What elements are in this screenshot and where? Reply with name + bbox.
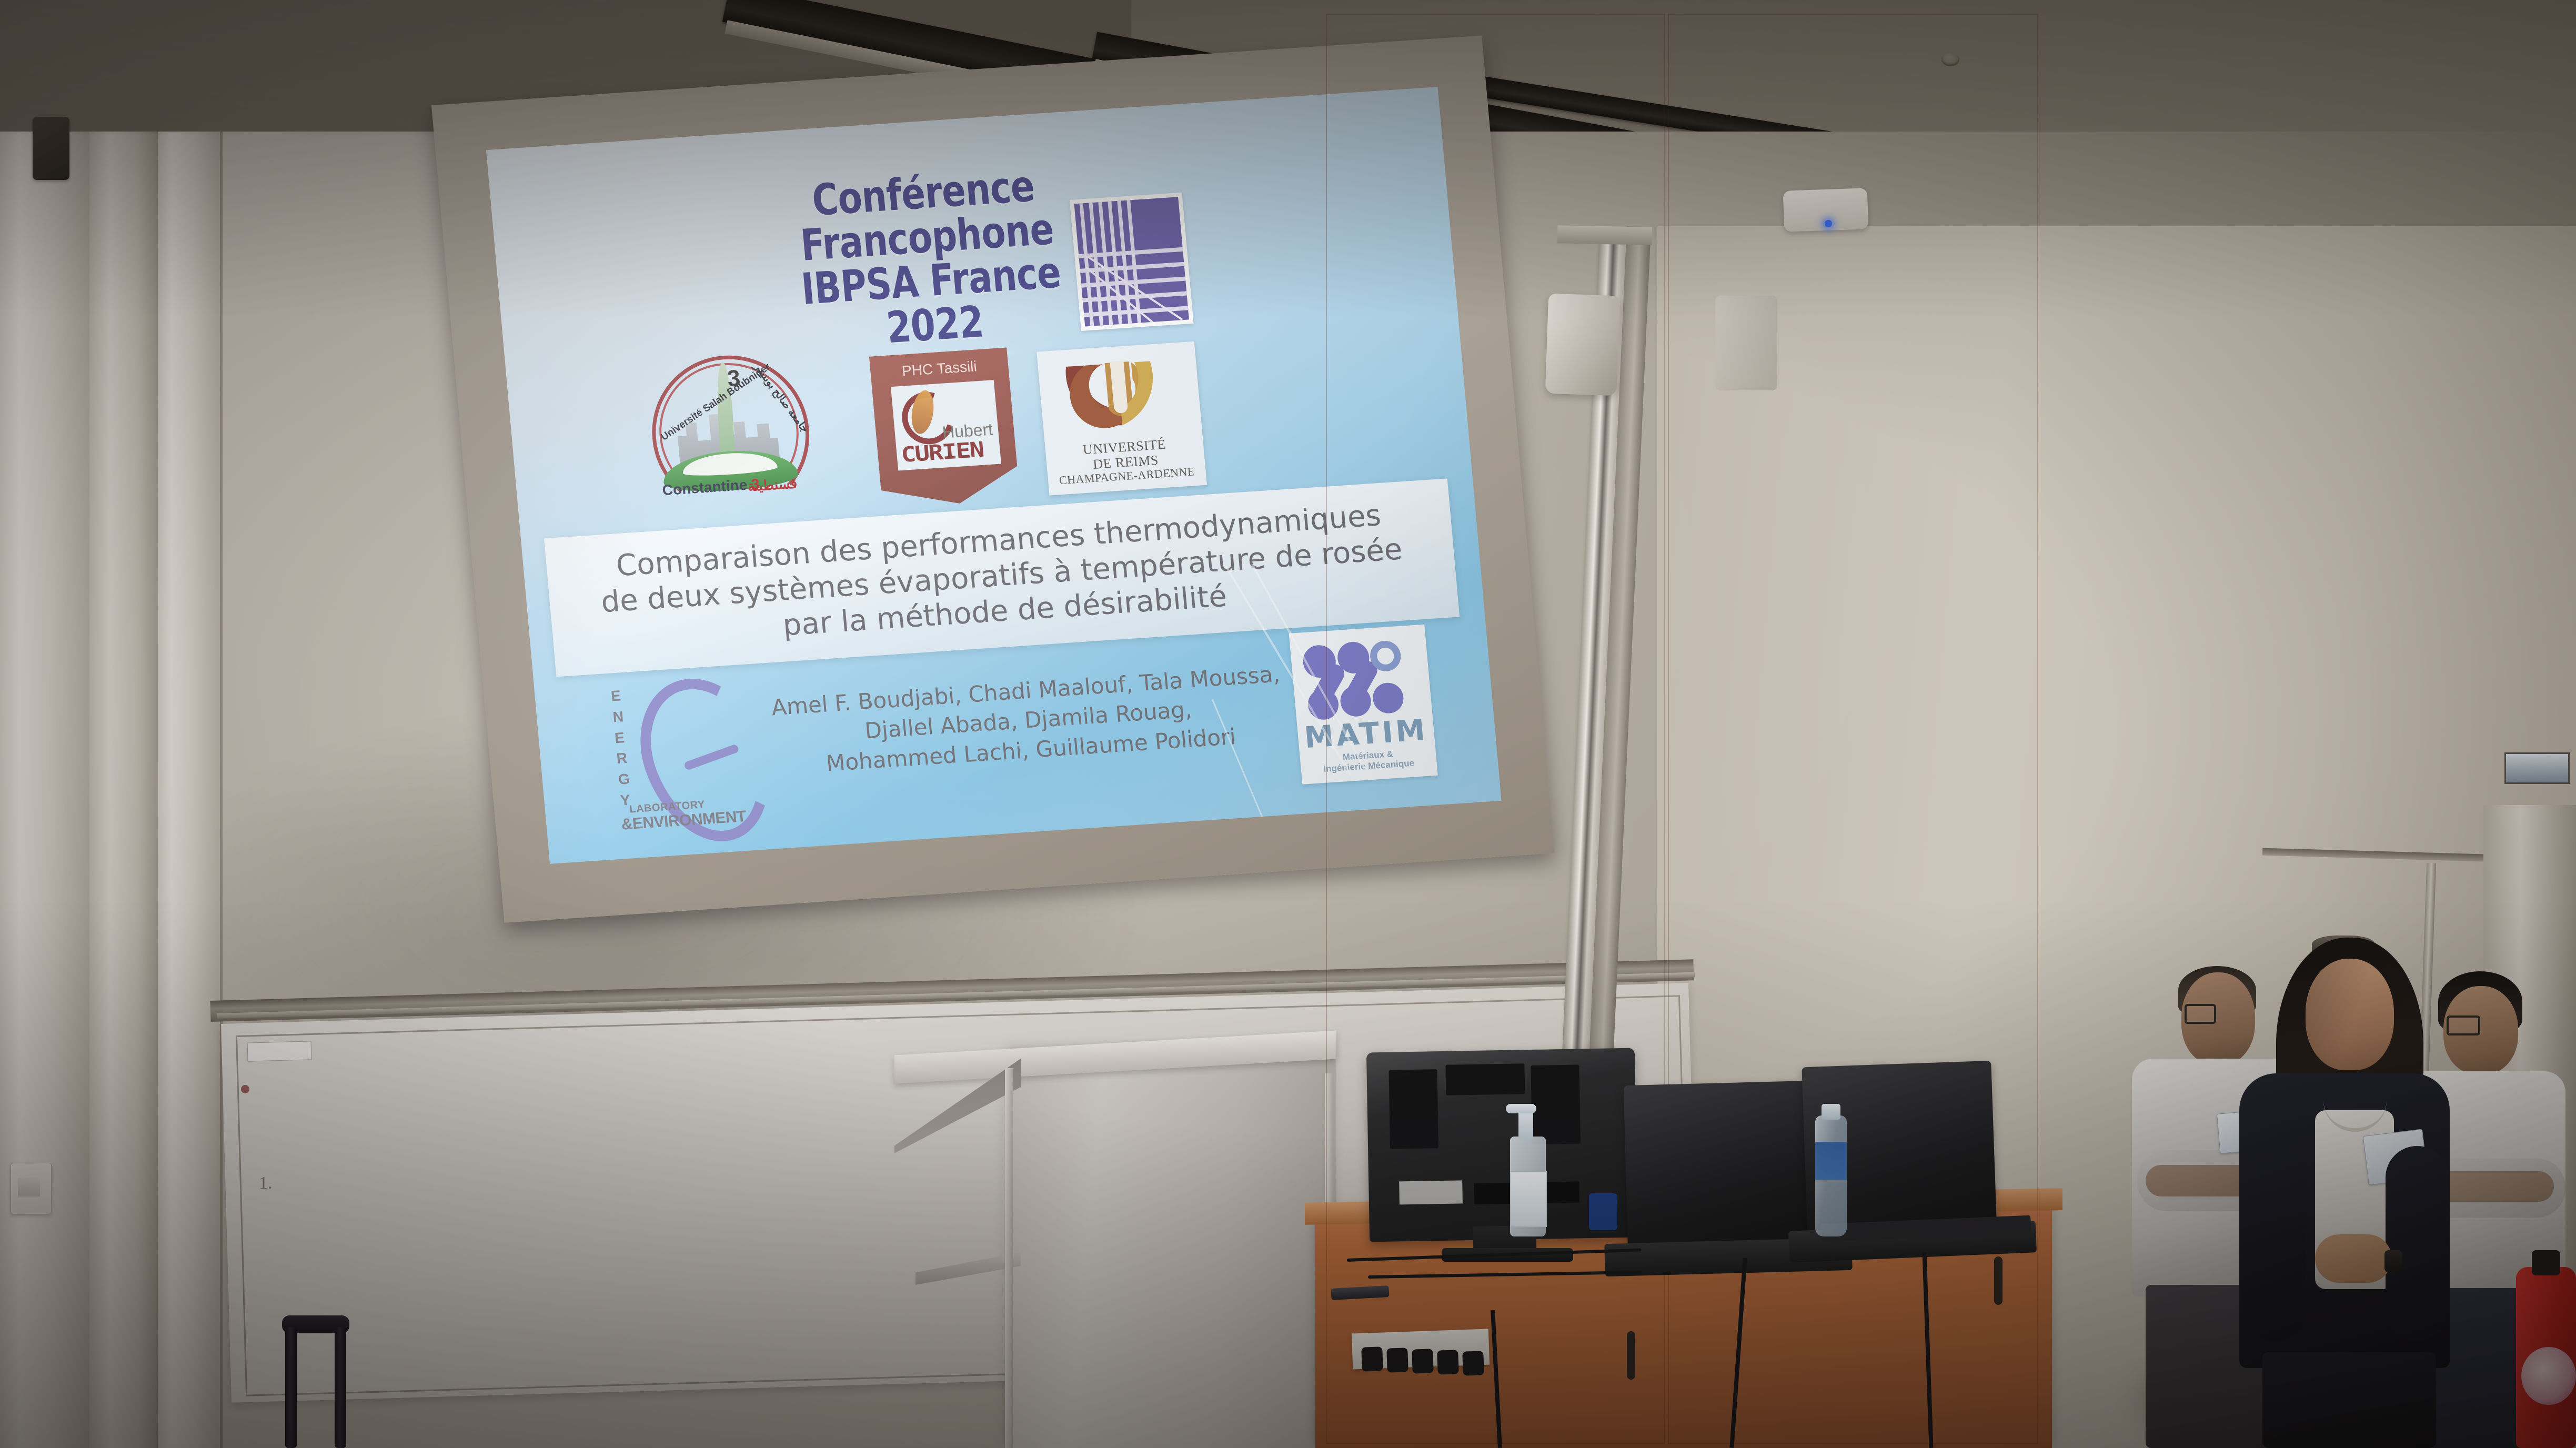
power-plug-1[interactable] bbox=[1361, 1346, 1383, 1371]
wall-sign bbox=[2504, 752, 2570, 784]
fire-extinguisher-handle bbox=[2532, 1250, 2560, 1275]
laptop-left-lid bbox=[1624, 1080, 1833, 1255]
power-plug-2[interactable] bbox=[1386, 1348, 1408, 1372]
wall-pilaster-mid bbox=[89, 132, 158, 1448]
woman-face-shadow bbox=[2306, 959, 2394, 1070]
phc-curien-label: CURIEN bbox=[900, 438, 984, 467]
woman-arm-left bbox=[2242, 1142, 2306, 1342]
whiteboard-marking: 1. bbox=[259, 1173, 273, 1193]
hand-sanitizer-label bbox=[1510, 1171, 1547, 1227]
monitor-vent-left bbox=[1388, 1069, 1438, 1149]
monitor-label bbox=[1399, 1180, 1463, 1204]
phc-program-label: PHC Tassili bbox=[870, 356, 1009, 381]
monitor-vesa-recess bbox=[1445, 1063, 1525, 1095]
slide-conference-heading: Conférence Francophone IBPSA France 2022 bbox=[770, 162, 1088, 357]
light-switch-rocker[interactable] bbox=[18, 1178, 40, 1196]
ibpsa-logo-mark bbox=[1074, 197, 1189, 326]
suitcase-handle-post-right bbox=[335, 1327, 346, 1448]
urca-logo: UNIVERSITÉ DE REIMS CHAMPAGNE-ARDENNE bbox=[1037, 341, 1207, 496]
phc-tassili-logo: PHC Tassili Hubert CURIEN bbox=[869, 347, 1020, 508]
woman-wristwatch bbox=[2384, 1250, 2402, 1272]
whiteboard-label-tag bbox=[247, 1041, 312, 1061]
conference-room-photo: 1. Conférence Francophone IBPSA France 2… bbox=[0, 0, 2576, 1448]
water-bottle-label bbox=[1815, 1142, 1847, 1180]
cabinet-handle-right[interactable] bbox=[1994, 1256, 2003, 1305]
ibpsa-logo bbox=[1070, 193, 1194, 331]
whiteboard-magnet[interactable] bbox=[241, 1085, 249, 1093]
phc-curien-card: Hubert CURIEN bbox=[891, 380, 1001, 470]
wall-pilaster-outer bbox=[0, 132, 89, 1448]
urca-fan-icon bbox=[1061, 355, 1178, 435]
monitor-vga-connector bbox=[1589, 1193, 1617, 1230]
lectern-post-left bbox=[1005, 1068, 1013, 1448]
hand-sanitizer-nozzle[interactable] bbox=[1506, 1104, 1536, 1113]
c3-city-arabic: قسنطينة bbox=[747, 475, 798, 495]
power-plug-3[interactable] bbox=[1412, 1349, 1434, 1373]
wall-pilaster-inner bbox=[158, 132, 221, 1448]
man-right-glasses bbox=[2447, 1015, 2480, 1035]
energy-environment-lab-logo: ENERGY LABORATORY &ENVIRONMENT bbox=[597, 670, 779, 839]
constantine3-logo: 3 Université Salah Boubnider جامعة صالح … bbox=[620, 328, 831, 509]
woman-arm-right bbox=[2386, 1146, 2449, 1341]
woman-trousers bbox=[2262, 1352, 2436, 1448]
cabinet-handle-left[interactable] bbox=[1627, 1331, 1635, 1380]
lectern bbox=[1010, 1047, 1336, 1448]
elab-vertical-text: ENERGY bbox=[610, 685, 632, 811]
suitcase-handle-post-left bbox=[285, 1327, 297, 1448]
wall-sensor-upper-left bbox=[33, 117, 69, 180]
monitor-vent-right bbox=[1531, 1064, 1581, 1144]
water-bottle-cap bbox=[1822, 1104, 1840, 1120]
pilaster-edge-line bbox=[220, 132, 223, 1448]
power-plug-4[interactable] bbox=[1437, 1350, 1459, 1374]
slide-authors: Amel F. Boudjabi, Chadi Maalouf, Tala Mo… bbox=[762, 659, 1295, 782]
urca-wordmark: UNIVERSITÉ DE REIMS CHAMPAGNE-ARDENNE bbox=[1045, 434, 1206, 488]
woman-hands-clasped bbox=[2315, 1234, 2392, 1283]
power-plug-5[interactable] bbox=[1462, 1351, 1484, 1375]
man-left-glasses bbox=[2185, 1004, 2216, 1024]
fire-extinguisher-label bbox=[2521, 1347, 2576, 1405]
